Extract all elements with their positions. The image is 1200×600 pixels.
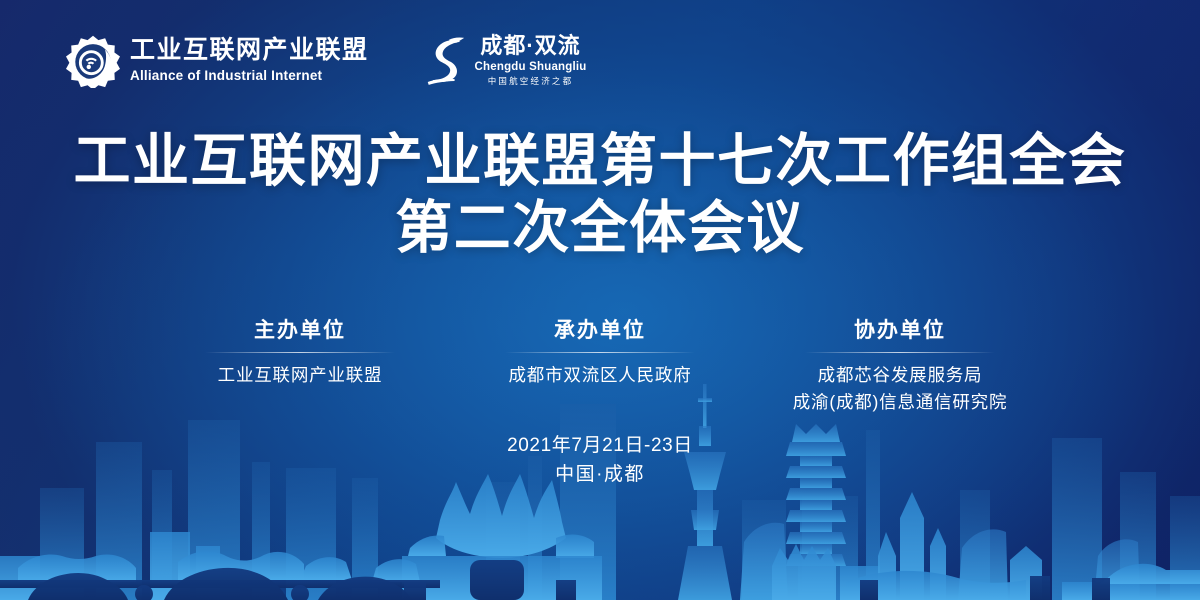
event-meta: 2021年7月21日-23日 中国·成都	[0, 432, 1200, 489]
organizer-host: 主办单位 工业互联网产业联盟	[150, 318, 450, 416]
title-line-2: 第二次全体会议	[0, 195, 1200, 262]
organizer-undertaker: 承办单位 成都市双流区人民政府	[450, 318, 750, 416]
organizer-name: 成渝(成都)信息通信研究院	[750, 389, 1050, 416]
organizer-divider	[505, 352, 695, 353]
organizer-divider	[805, 352, 995, 353]
organizer-role-label: 主办单位	[150, 318, 450, 343]
organizer-row: 主办单位 工业互联网产业联盟 承办单位 成都市双流区人民政府 协办单位 成都芯谷…	[0, 318, 1200, 416]
shuangliu-logo: 成都·双流 Chengdu Shuangliu 中国航空经济之都	[422, 34, 587, 87]
organizer-name: 成都芯谷发展服务局	[750, 362, 1050, 389]
title-line-1: 工业互联网产业联盟第十七次工作组全会	[0, 128, 1200, 195]
organizer-name: 成都市双流区人民政府	[450, 362, 750, 389]
organizer-name: 工业互联网产业联盟	[150, 362, 450, 389]
event-date: 2021年7月21日-23日	[0, 432, 1200, 461]
shuangliu-name-cn: 成都·双流	[480, 34, 580, 57]
gear-wifi-icon	[66, 34, 120, 88]
conference-banner: 工业互联网产业联盟 Alliance of Industrial Interne…	[0, 0, 1200, 600]
alliance-name-cn: 工业互联网产业联盟	[130, 37, 369, 65]
conference-title: 工业互联网产业联盟第十七次工作组全会 第二次全体会议	[0, 128, 1200, 261]
organizer-role-label: 协办单位	[750, 318, 1050, 343]
logo-bar: 工业互联网产业联盟 Alliance of Industrial Interne…	[66, 34, 587, 88]
alliance-name-en: Alliance of Industrial Internet	[130, 67, 369, 85]
shuangliu-name-en: Chengdu Shuangliu	[475, 60, 587, 75]
organizer-coorganizer: 协办单位 成都芯谷发展服务局 成渝(成都)信息通信研究院	[750, 318, 1050, 416]
logo-divider	[395, 39, 396, 83]
organizer-divider	[205, 352, 395, 353]
organizer-role-label: 承办单位	[450, 318, 750, 343]
alliance-logo: 工业互联网产业联盟 Alliance of Industrial Interne…	[66, 34, 369, 88]
event-place: 中国·成都	[0, 461, 1200, 490]
shuangliu-tagline: 中国航空经济之都	[488, 76, 574, 87]
s-swoosh-airplane-icon	[422, 36, 468, 86]
